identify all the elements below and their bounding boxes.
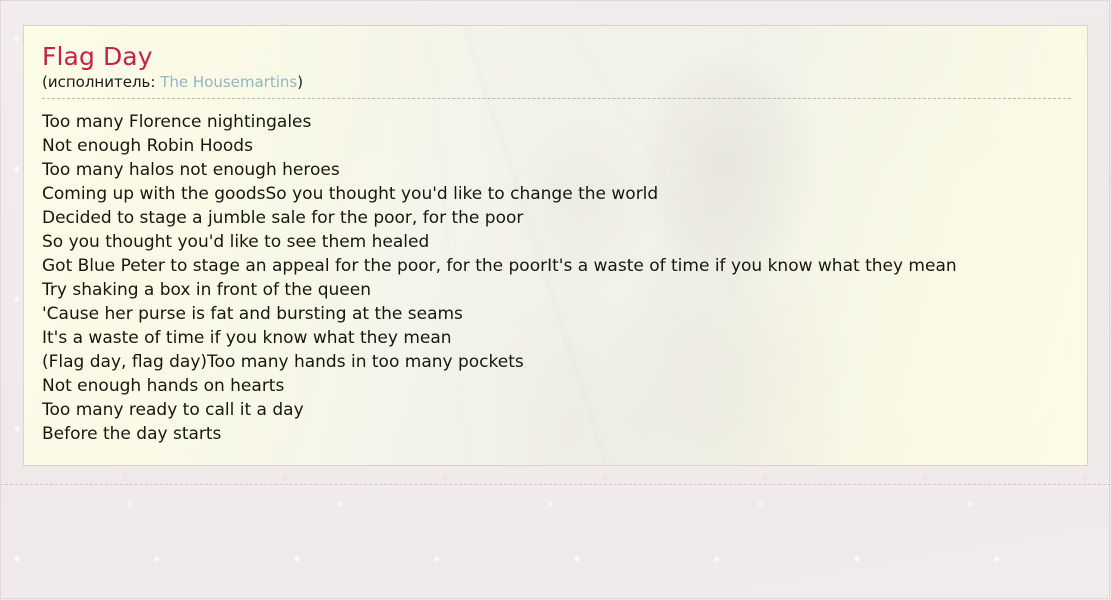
page-title: Flag Day	[42, 44, 1067, 70]
lyrics-line: 'Cause her purse is fat and bursting at …	[42, 302, 1067, 326]
artist-label: (исполнитель:	[42, 73, 160, 91]
lyrics-line: Too many halos not enough heroes	[42, 158, 1067, 182]
lyrics-line: Coming up with the goodsSo you thought y…	[42, 182, 1067, 206]
lyrics-line: Not enough hands on hearts	[42, 374, 1067, 398]
artist-line: (исполнитель: The Housemartins)	[42, 73, 1071, 99]
artist-link[interactable]: The Housemartins	[160, 73, 297, 91]
lyrics-line: Too many Florence nightingales	[42, 110, 1067, 134]
lyrics-line: Not enough Robin Hoods	[42, 134, 1067, 158]
card-content: Flag Day (исполнитель: The Housemartins)…	[24, 26, 1087, 446]
lyrics-card: Flag Day (исполнитель: The Housemartins)…	[23, 25, 1088, 466]
artist-suffix: )	[297, 73, 303, 91]
lyrics-line: Got Blue Peter to stage an appeal for th…	[42, 254, 1067, 278]
lyrics-line: It's a waste of time if you know what th…	[42, 326, 1067, 350]
lyrics-line: So you thought you'd like to see them he…	[42, 230, 1067, 254]
lyrics-line: Too many ready to call it a day	[42, 398, 1067, 422]
lyrics-line: Before the day starts	[42, 422, 1067, 446]
lyrics-line: (Flag day, flag day)Too many hands in to…	[42, 350, 1067, 374]
lyrics-text: Too many Florence nightingales Not enoug…	[42, 99, 1067, 446]
lyrics-line: Decided to stage a jumble sale for the p…	[42, 206, 1067, 230]
lyrics-line: Try shaking a box in front of the queen	[42, 278, 1067, 302]
page-divider	[0, 484, 1111, 485]
